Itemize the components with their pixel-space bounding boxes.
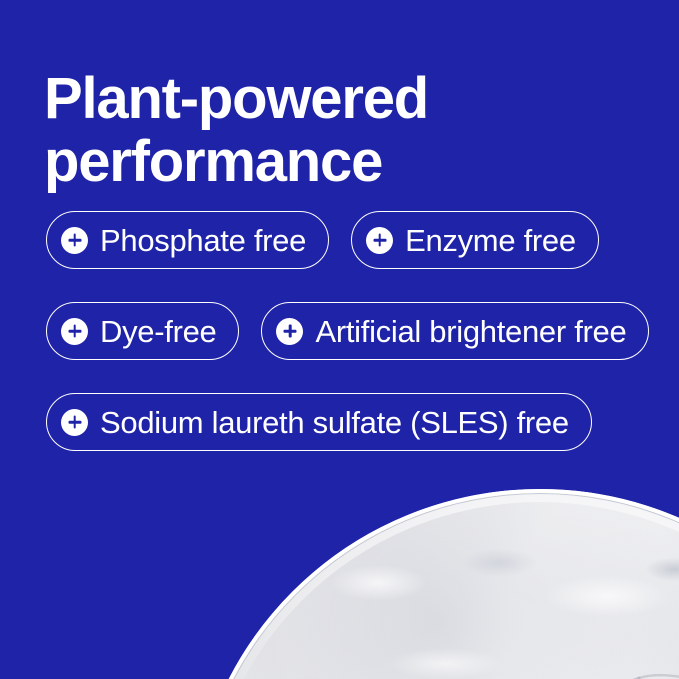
claim-pill-label: Dye-free (100, 316, 216, 347)
powder-texture (203, 502, 679, 679)
claim-pill-sles-free[interactable]: Sodium laureth sulfate (SLES) free (46, 393, 592, 451)
claims-row: Phosphate free Enzyme free (46, 211, 646, 269)
page-title: Plant-powered performance (44, 67, 604, 193)
claim-pill-label: Phosphate free (100, 225, 306, 256)
powder-crack-lines (203, 502, 679, 679)
promo-poster: Plant-powered performance Phosphate free… (0, 0, 679, 679)
plus-icon (366, 227, 393, 254)
powder-cracks (203, 502, 679, 679)
claim-pill-label: Enzyme free (405, 225, 576, 256)
claim-pill-phosphate-free[interactable]: Phosphate free (46, 211, 329, 269)
powder-shading (203, 502, 679, 679)
claim-pill-dye-free[interactable]: Dye-free (46, 302, 239, 360)
claims-row: Dye-free Artificial brightener free (46, 302, 646, 360)
plus-icon (61, 409, 88, 436)
plus-icon (61, 318, 88, 345)
claims-list: Phosphate free Enzyme free Dye-free Arti… (46, 211, 646, 451)
plus-icon (61, 227, 88, 254)
claim-pill-label: Artificial brightener free (315, 316, 626, 347)
claim-pill-label: Sodium laureth sulfate (SLES) free (100, 407, 569, 438)
claim-pill-artificial-brightener-free[interactable]: Artificial brightener free (261, 302, 649, 360)
claims-row: Sodium laureth sulfate (SLES) free (46, 393, 646, 451)
powder-dish-body (190, 489, 679, 679)
powder-dish-rim (190, 489, 679, 679)
plus-icon (276, 318, 303, 345)
claim-pill-enzyme-free[interactable]: Enzyme free (351, 211, 599, 269)
